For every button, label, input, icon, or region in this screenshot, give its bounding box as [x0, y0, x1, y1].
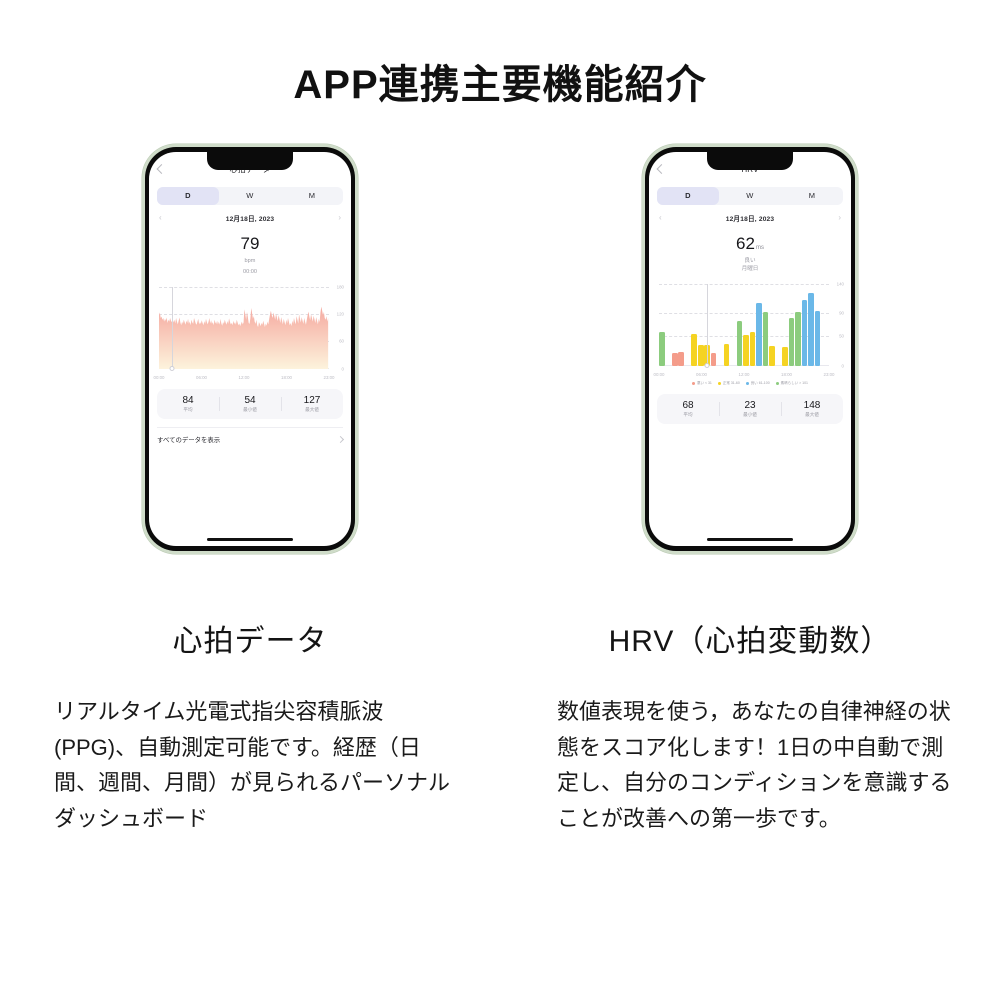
date-prev-icon[interactable]: ‹: [159, 214, 162, 222]
cards-row: 心拍データ D W M ‹ 12月18日, 2023 ›: [0, 144, 1000, 837]
date-next-icon[interactable]: ›: [338, 214, 341, 222]
date-navigator: ‹ 12月18日, 2023 ›: [159, 211, 341, 225]
bar: [724, 344, 730, 366]
phone-mockup-hrv: HRV D W M ‹ 12月18日, 2023 ›: [642, 144, 858, 554]
heart-rate-area-series: [159, 287, 329, 369]
reading-weekday-label: 月曜日: [649, 265, 851, 273]
reading-value: 62: [736, 234, 755, 253]
y-axis-tick-label: 180: [337, 284, 344, 289]
page-title: APP連携主要機能紹介: [0, 0, 1000, 110]
chart-cursor-line[interactable]: [707, 284, 708, 366]
phone-notch: [207, 152, 293, 170]
bar: [737, 321, 743, 366]
chart-cursor-handle[interactable]: [169, 366, 174, 371]
date-navigator: ‹ 12月18日, 2023 ›: [659, 211, 841, 225]
y-axis-tick-label: 60: [339, 339, 344, 344]
legend-color-dot: [692, 382, 695, 385]
x-axis-tick-label: 12:00: [739, 372, 750, 377]
current-reading: 79 bpm 00:00: [149, 235, 351, 277]
phone-bezel: 心拍データ D W M ‹ 12月18日, 2023 ›: [145, 147, 355, 551]
bar: [678, 352, 684, 366]
tab-week[interactable]: W: [719, 187, 781, 205]
bar: [756, 303, 762, 366]
page-root: APP連携主要機能紹介 心拍データ D W M: [0, 0, 1000, 1000]
legend-color-dot: [776, 382, 779, 385]
legend-color-dot: [746, 382, 749, 385]
phone-notch: [707, 152, 793, 170]
bar: [769, 346, 775, 366]
x-axis-tick-label: 23:00: [324, 375, 335, 380]
phone-screen-heart-rate: 心拍データ D W M ‹ 12月18日, 2023 ›: [149, 152, 351, 546]
card-heart-rate: 心拍データ D W M ‹ 12月18日, 2023 ›: [0, 144, 500, 837]
hrv-legend: 悪い < 31正常 31-60良い 61-100素晴らしい > 101: [649, 381, 851, 386]
legend-label: 素晴らしい > 101: [781, 381, 808, 386]
stats-summary: 84 平均 54 最小値 127 最大値: [157, 389, 343, 419]
chevron-right-icon: [337, 436, 344, 443]
stat-min-label: 最小値: [719, 412, 781, 418]
stat-average-value: 84: [157, 395, 219, 406]
hrv-chart[interactable]: 0509014000:0006:0012:0018:0023:00: [655, 280, 845, 378]
period-segmented-control[interactable]: D W M: [157, 187, 343, 205]
x-axis-tick-label: 00:00: [654, 372, 665, 377]
stat-average: 84 平均: [157, 395, 219, 413]
stats-summary: 68 平均 23 最小値 148 最大値: [657, 394, 843, 424]
card-hrv: HRV D W M ‹ 12月18日, 2023 ›: [500, 144, 1000, 837]
reading-unit: ms: [756, 245, 764, 251]
bar: [789, 318, 795, 366]
stat-min: 23 最小値: [719, 400, 781, 418]
x-axis-tick-label: 06:00: [196, 375, 207, 380]
card-caption: HRV（心拍変動数）: [609, 616, 892, 660]
legend-item: 正常 31-60: [718, 381, 740, 386]
tab-month[interactable]: M: [781, 187, 843, 205]
date-label: 12月18日, 2023: [226, 213, 275, 223]
x-axis-tick-label: 18:00: [281, 375, 292, 380]
legend-label: 良い 61-100: [751, 381, 770, 386]
tab-day[interactable]: D: [157, 187, 219, 205]
legend-label: 正常 31-60: [723, 381, 740, 386]
bar: [698, 345, 704, 366]
phone-screen-hrv: HRV D W M ‹ 12月18日, 2023 ›: [649, 152, 851, 546]
stat-average: 68 平均: [657, 400, 719, 418]
hrv-plot-area: 0509014000:0006:0012:0018:0023:00: [659, 284, 829, 366]
period-segmented-control[interactable]: D W M: [657, 187, 843, 205]
x-axis-tick-label: 00:00: [154, 375, 165, 380]
legend-color-dot: [718, 382, 721, 385]
bar: [743, 335, 749, 365]
stat-max-label: 最大値: [781, 412, 843, 418]
hrv-bar-series: [659, 284, 829, 366]
stat-min-value: 54: [219, 395, 281, 406]
legend-item: 素晴らしい > 101: [776, 381, 808, 386]
legend-item: 悪い < 31: [692, 381, 712, 386]
heart-rate-plot-area: 06012018000:0006:0012:0018:0023:00: [159, 287, 329, 369]
tab-day[interactable]: D: [657, 187, 719, 205]
chart-cursor-handle[interactable]: [705, 363, 710, 368]
x-axis-tick-label: 18:00: [781, 372, 792, 377]
stat-min-label: 最小値: [219, 407, 281, 413]
reading-unit: bpm: [149, 257, 351, 265]
reading-time: 00:00: [149, 268, 351, 276]
stat-average-label: 平均: [657, 412, 719, 418]
y-axis-tick-label: 50: [839, 334, 844, 339]
show-all-data-label: すべてのデータを表示: [157, 435, 220, 444]
bar: [659, 332, 665, 365]
bar: [808, 293, 814, 366]
y-axis-tick-label: 0: [342, 366, 344, 371]
date-prev-icon[interactable]: ‹: [659, 214, 662, 222]
x-axis-tick-label: 23:00: [824, 372, 835, 377]
bar: [795, 312, 801, 365]
chevron-left-icon[interactable]: [657, 164, 667, 174]
reading-status-label: 良い: [649, 257, 851, 265]
date-label: 12月18日, 2023: [726, 213, 775, 223]
y-axis-tick-label: 90: [839, 311, 844, 316]
chart-cursor-line[interactable]: [172, 287, 173, 369]
chevron-left-icon[interactable]: [157, 164, 167, 174]
card-caption: 心拍データ: [173, 616, 328, 660]
show-all-data-row[interactable]: すべてのデータを表示: [157, 427, 343, 447]
reading-status: 良い月曜日: [649, 257, 851, 274]
stat-max: 127 最大値: [281, 395, 343, 413]
stat-min-value: 23: [719, 400, 781, 411]
stat-max-value: 127: [281, 395, 343, 406]
stat-max-value: 148: [781, 400, 843, 411]
x-axis-tick-label: 06:00: [696, 372, 707, 377]
home-indicator: [207, 538, 293, 541]
phone-mockup-heart-rate: 心拍データ D W M ‹ 12月18日, 2023 ›: [142, 144, 358, 554]
reading-value: 79: [241, 234, 260, 253]
legend-label: 悪い < 31: [697, 381, 712, 386]
x-axis-tick-label: 12:00: [239, 375, 250, 380]
bar: [672, 353, 678, 366]
stat-average-label: 平均: [157, 407, 219, 413]
bar: [750, 332, 756, 366]
card-description: 数値表現を使う，あなたの自律神経の状態をスコア化します！1日の中自動で測定し、自…: [557, 694, 957, 837]
heart-rate-chart[interactable]: 06012018000:0006:0012:0018:0023:00: [155, 283, 345, 381]
bar: [711, 353, 717, 365]
date-next-icon[interactable]: ›: [838, 214, 841, 222]
home-indicator: [707, 538, 793, 541]
stat-max-label: 最大値: [281, 407, 343, 413]
stat-min: 54 最小値: [219, 395, 281, 413]
card-description: リアルタイム光電式指尖容積脈波(PPG)、自動測定可能です。経歴（日間、週間、月…: [54, 694, 454, 837]
legend-item: 良い 61-100: [746, 381, 770, 386]
stat-max: 148 最大値: [781, 400, 843, 418]
tab-month[interactable]: M: [281, 187, 343, 205]
stat-average-value: 68: [657, 400, 719, 411]
bar: [763, 312, 769, 366]
bar: [815, 311, 821, 365]
bar: [802, 300, 808, 366]
bar: [782, 347, 788, 366]
bar: [691, 334, 697, 366]
phone-bezel: HRV D W M ‹ 12月18日, 2023 ›: [645, 147, 855, 551]
y-axis-tick-label: 140: [837, 281, 844, 286]
y-axis-tick-label: 120: [337, 312, 344, 317]
current-reading: 62ms 良い月曜日: [649, 235, 851, 274]
tab-week[interactable]: W: [219, 187, 281, 205]
y-axis-tick-label: 0: [842, 363, 844, 368]
